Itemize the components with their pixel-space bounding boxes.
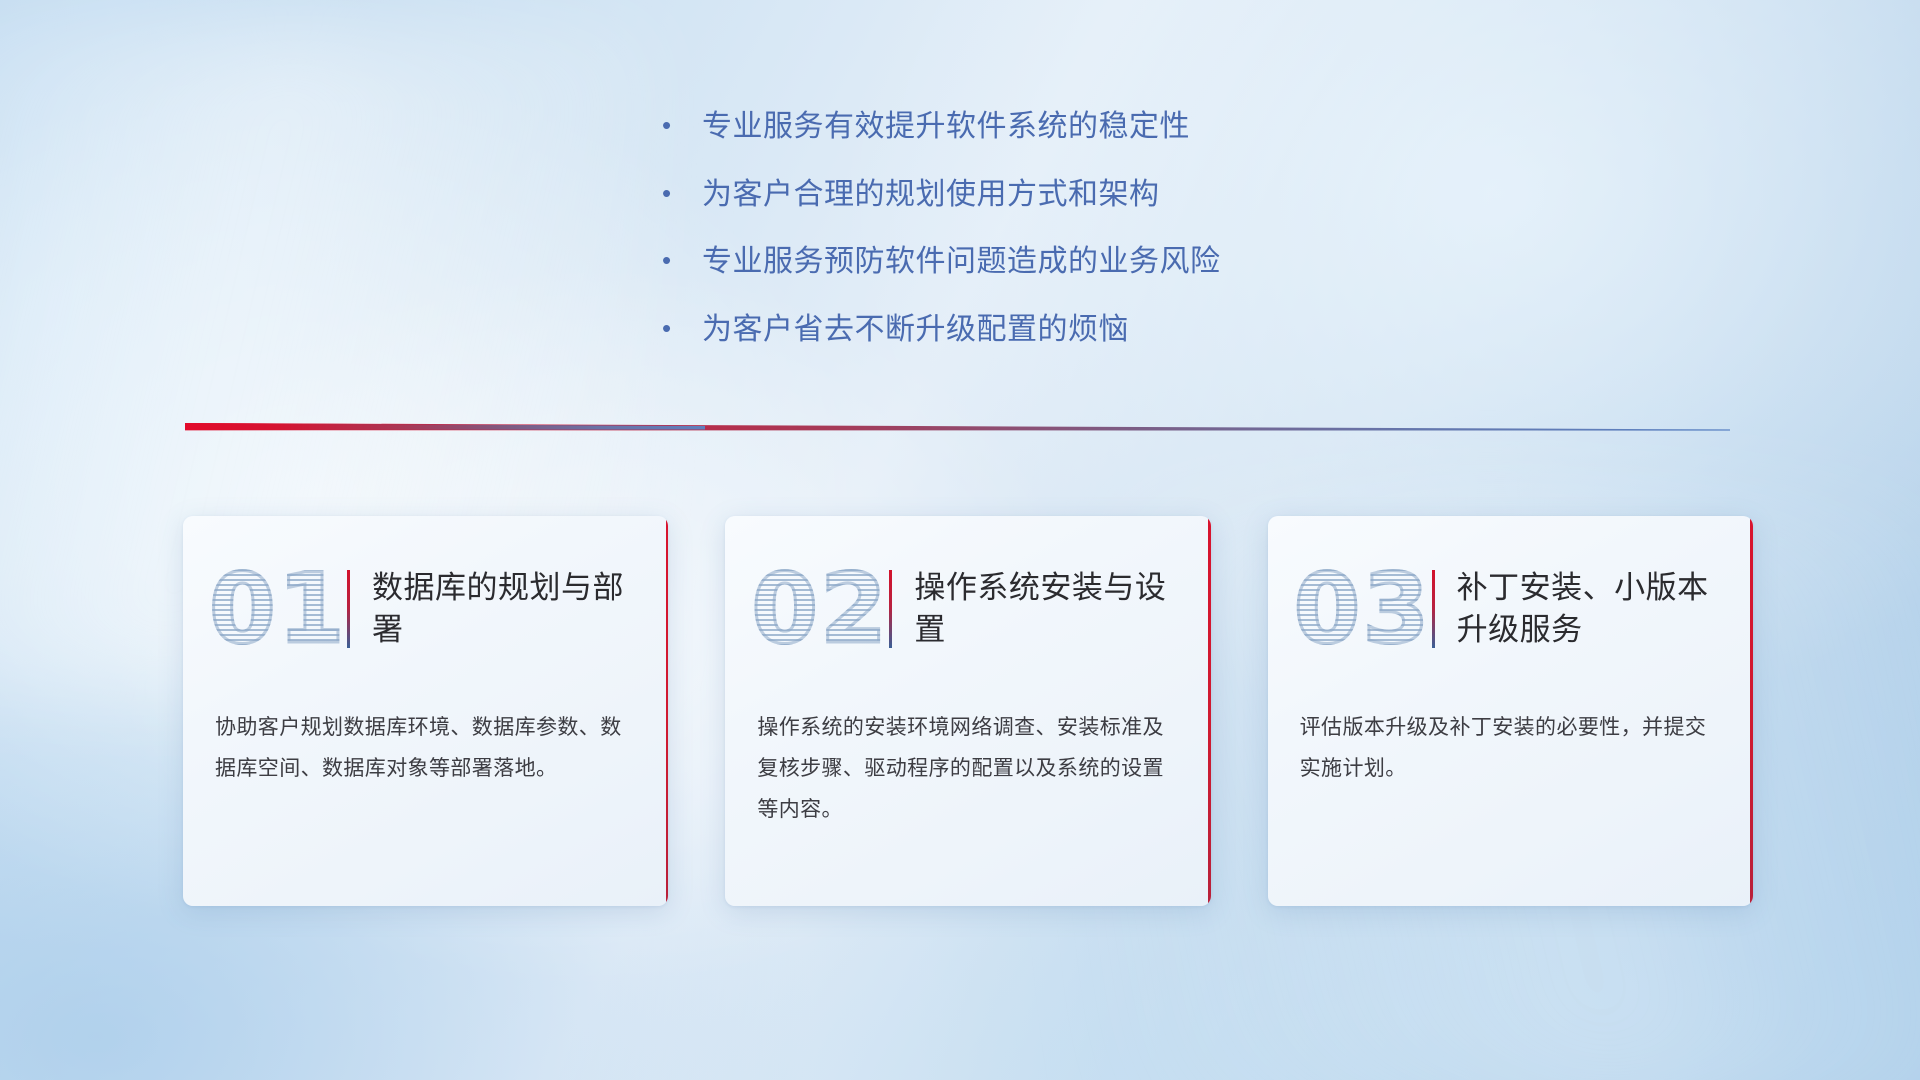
card-header: 01 数据库的规划与部署: [183, 516, 668, 702]
bullet-text: 专业服务有效提升软件系统的稳定性: [702, 108, 1422, 146]
benefits-bullet-list: • 专业服务有效提升软件系统的稳定性 • 为客户合理的规划使用方式和架构 • 专…: [662, 108, 1422, 378]
slide-root: • 专业服务有效提升软件系统的稳定性 • 为客户合理的规划使用方式和架构 • 专…: [0, 0, 1920, 1080]
service-card-list: 01 数据库的规划与部署 协助客户规划数据库环境、数据库参数、数据库空间、数据库…: [183, 516, 1753, 906]
bullet-text: 为客户合理的规划使用方式和架构: [702, 176, 1422, 214]
card-title: 操作系统安装与设置: [914, 567, 1210, 651]
card-description: 操作系统的安装环境网络调查、安装标准及复核步骤、驱动程序的配置以及系统的设置等内…: [725, 702, 1210, 831]
bullet-dot-icon: •: [662, 315, 702, 341]
card-divider-bar: [889, 570, 892, 648]
card-title: 数据库的规划与部署: [372, 567, 668, 651]
service-card[interactable]: 01 数据库的规划与部署 协助客户规划数据库环境、数据库参数、数据库空间、数据库…: [183, 516, 668, 906]
bullet-dot-icon: •: [662, 247, 702, 273]
bullet-item: • 为客户省去不断升级配置的烦恼: [662, 311, 1422, 349]
section-divider-shape: [185, 420, 1730, 442]
card-number: 01: [209, 549, 341, 669]
card-number: 02: [751, 549, 883, 669]
bullet-text: 为客户省去不断升级配置的烦恼: [702, 311, 1422, 349]
bullet-item: • 为客户合理的规划使用方式和架构: [662, 176, 1422, 214]
bullet-text: 专业服务预防软件问题造成的业务风险: [702, 243, 1422, 281]
card-divider-bar: [1432, 570, 1435, 648]
bullet-dot-icon: •: [662, 180, 702, 206]
bullet-item: • 专业服务预防软件问题造成的业务风险: [662, 243, 1422, 281]
bullet-dot-icon: •: [662, 112, 702, 138]
card-header: 02 操作系统安装与设置: [725, 516, 1210, 702]
card-title: 补丁安装、小版本升级服务: [1457, 567, 1753, 651]
section-divider: [185, 420, 1730, 442]
card-number: 03: [1294, 549, 1426, 669]
service-card[interactable]: 02 操作系统安装与设置 操作系统的安装环境网络调查、安装标准及复核步骤、驱动程…: [725, 516, 1210, 906]
card-description: 评估版本升级及补丁安装的必要性，并提交实施计划。: [1268, 702, 1753, 790]
bullet-item: • 专业服务有效提升软件系统的稳定性: [662, 108, 1422, 146]
service-card[interactable]: 03 补丁安装、小版本升级服务 评估版本升级及补丁安装的必要性，并提交实施计划。: [1268, 516, 1753, 906]
card-divider-bar: [347, 570, 350, 648]
card-description: 协助客户规划数据库环境、数据库参数、数据库空间、数据库对象等部署落地。: [183, 702, 668, 790]
card-header: 03 补丁安装、小版本升级服务: [1268, 516, 1753, 702]
